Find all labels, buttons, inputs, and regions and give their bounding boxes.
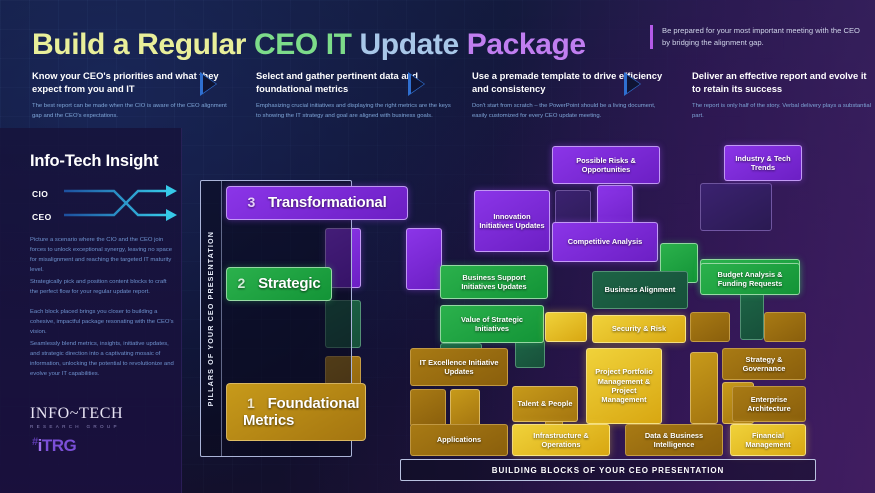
riser-green-d bbox=[740, 290, 764, 340]
tier-3-number: 3 bbox=[243, 194, 259, 210]
tier-2-number: 2 bbox=[234, 275, 250, 291]
step-3: Use a premade template to drive efficien… bbox=[472, 70, 672, 121]
insight-paragraph-2: Strategically pick and position content … bbox=[30, 278, 176, 298]
insight-title: Info-Tech Insight bbox=[30, 152, 158, 171]
info-tech-logo-name: INFO~TECH bbox=[30, 405, 123, 423]
block-innovation-initiatives-updates[interactable]: Innovation Initiatives Updates bbox=[474, 190, 550, 252]
riser-purple-e bbox=[700, 183, 772, 231]
tier-label-foundational[interactable]: 1Foundational Metrics bbox=[226, 383, 366, 441]
step-2: Select and gather pertinent data and fou… bbox=[256, 70, 456, 121]
step-1: Know your CEO's priorities and what they… bbox=[32, 70, 232, 121]
infographic-canvas: Build a Regular CEO IT Update Package Be… bbox=[0, 0, 875, 493]
page-title: Build a Regular CEO IT Update Package bbox=[32, 28, 586, 62]
block-talent-people[interactable]: Talent & People bbox=[512, 386, 578, 422]
block-financial-management[interactable]: Financial Management bbox=[730, 424, 806, 456]
tier-1-label: Foundational Metrics bbox=[243, 395, 359, 429]
block-security-risk[interactable]: Security & Risk bbox=[592, 315, 686, 343]
crossing-arrows-icon bbox=[62, 182, 178, 228]
block-business-alignment[interactable]: Business Alignment bbox=[592, 271, 688, 309]
riser-gold-b bbox=[545, 312, 587, 342]
block-strategy-governance[interactable]: Strategy & Governance bbox=[722, 348, 806, 380]
block-industry-tech-trends[interactable]: Industry & Tech Trends bbox=[724, 145, 802, 181]
insight-role-cio: CIO bbox=[32, 189, 48, 199]
step-2-heading: Select and gather pertinent data and fou… bbox=[256, 70, 456, 95]
title-part-1: Build a Regular bbox=[32, 28, 254, 61]
riser-green-f bbox=[515, 340, 545, 368]
riser-gold-f bbox=[450, 389, 480, 427]
tier-2-label: Strategic bbox=[254, 275, 324, 292]
title-part-2: CEO IT bbox=[254, 28, 360, 61]
tier-label-transformational[interactable]: 3Transformational bbox=[226, 186, 408, 220]
tier-3-label: Transformational bbox=[264, 194, 391, 211]
play-arrow-icon bbox=[408, 72, 425, 96]
info-tech-logo-sub: RESEARCH GROUP bbox=[30, 424, 123, 429]
step-4-heading: Deliver an effective report and evolve i… bbox=[692, 70, 875, 95]
block-value-of-strategic-initiatives[interactable]: Value of Strategic Initiatives bbox=[440, 305, 544, 343]
title-part-4: Package bbox=[467, 28, 586, 61]
insight-paragraph-3: Each block placed brings you closer to b… bbox=[30, 308, 176, 338]
block-enterprise-architecture[interactable]: Enterprise Architecture bbox=[732, 386, 806, 422]
step-4: Deliver an effective report and evolve i… bbox=[692, 70, 875, 121]
riser-gold-e bbox=[410, 389, 446, 427]
play-arrow-icon bbox=[624, 72, 641, 96]
tagline: Be prepared for your most important meet… bbox=[650, 25, 865, 49]
riser-gold-c bbox=[690, 312, 730, 342]
block-project-portfolio-management[interactable]: Project Portfolio Management & Project M… bbox=[586, 348, 662, 424]
pillars-axis-label: PILLARS OF YOUR CEO PRESENTATION bbox=[200, 180, 222, 457]
info-tech-logo: INFO~TECH RESEARCH GROUP bbox=[30, 405, 123, 429]
block-data-business-intelligence[interactable]: Data & Business Intelligence bbox=[625, 424, 723, 456]
itrg-rest: TRG bbox=[42, 436, 76, 455]
step-4-body: The report is only half of the story. Ve… bbox=[692, 102, 875, 121]
riser-gold-g bbox=[690, 352, 718, 424]
block-business-support-initiatives-updates[interactable]: Business Support Initiatives Updates bbox=[440, 265, 548, 299]
block-infrastructure-operations[interactable]: Infrastructure & Operations bbox=[512, 424, 610, 456]
itrg-logo: #iTRG bbox=[32, 436, 76, 456]
step-3-body: Don't start from scratch – the PowerPoin… bbox=[472, 102, 672, 121]
tier-label-strategic[interactable]: 2Strategic bbox=[226, 267, 332, 301]
block-it-excellence-initiative-updates[interactable]: IT Excellence Initiative Updates bbox=[410, 348, 508, 386]
building-blocks-footer: BUILDING BLOCKS OF YOUR CEO PRESENTATION bbox=[400, 459, 816, 481]
play-arrow-icon bbox=[200, 72, 217, 96]
insight-role-ceo: CEO bbox=[32, 212, 52, 222]
tier-1-number: 1 bbox=[243, 395, 259, 411]
block-possible-risks-opportunities[interactable]: Possible Risks & Opportunities bbox=[552, 146, 660, 184]
block-budget-analysis-funding-requests[interactable]: Budget Analysis & Funding Requests bbox=[700, 263, 800, 295]
block-applications[interactable]: Applications bbox=[410, 424, 508, 456]
insight-paragraph-4: Seamlessly blend metrics, insights, init… bbox=[30, 340, 176, 380]
insight-paragraph-1: Picture a scenario where the CIO and the… bbox=[30, 236, 176, 276]
step-1-body: The best report can be made when the CIO… bbox=[32, 102, 232, 121]
step-2-body: Emphasizing crucial initiatives and disp… bbox=[256, 102, 456, 121]
step-3-heading: Use a premade template to drive efficien… bbox=[472, 70, 672, 95]
block-competitive-analysis[interactable]: Competitive Analysis bbox=[552, 222, 658, 262]
title-part-3: Update bbox=[360, 28, 467, 61]
riser-purple-b bbox=[406, 228, 442, 290]
riser-gold-d bbox=[764, 312, 806, 342]
